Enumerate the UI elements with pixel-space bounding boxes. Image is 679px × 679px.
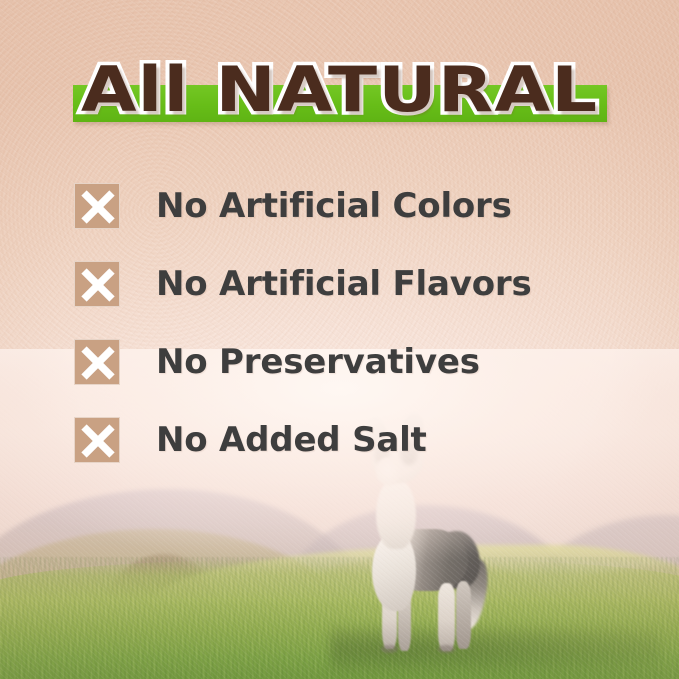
list-item: No Added Salt (74, 417, 614, 463)
claim-label: No Preservatives (156, 342, 480, 382)
list-item: No Artificial Colors (74, 183, 614, 229)
page-title: All NATURAL (0, 48, 679, 132)
x-mark-icon (74, 417, 120, 463)
claim-label: No Added Salt (156, 420, 427, 460)
list-item: No Artificial Flavors (74, 261, 614, 307)
x-mark-icon (74, 261, 120, 307)
x-mark-icon (74, 183, 120, 229)
claims-list: No Artificial Colors No Artificial Flavo… (74, 183, 614, 495)
list-item: No Preservatives (74, 339, 614, 385)
dog-paw-back (438, 645, 455, 653)
dog-back-leg-near (438, 583, 455, 651)
claim-label: No Artificial Flavors (156, 264, 531, 304)
headline-banner: All NATURAL (0, 48, 679, 140)
claim-label: No Artificial Colors (156, 186, 512, 226)
dog-paw-front (381, 645, 398, 653)
all-natural-product-poster: All NATURAL No Artificial Colors (0, 0, 679, 679)
x-mark-icon (74, 339, 120, 385)
dog-back-leg-far (456, 581, 471, 649)
